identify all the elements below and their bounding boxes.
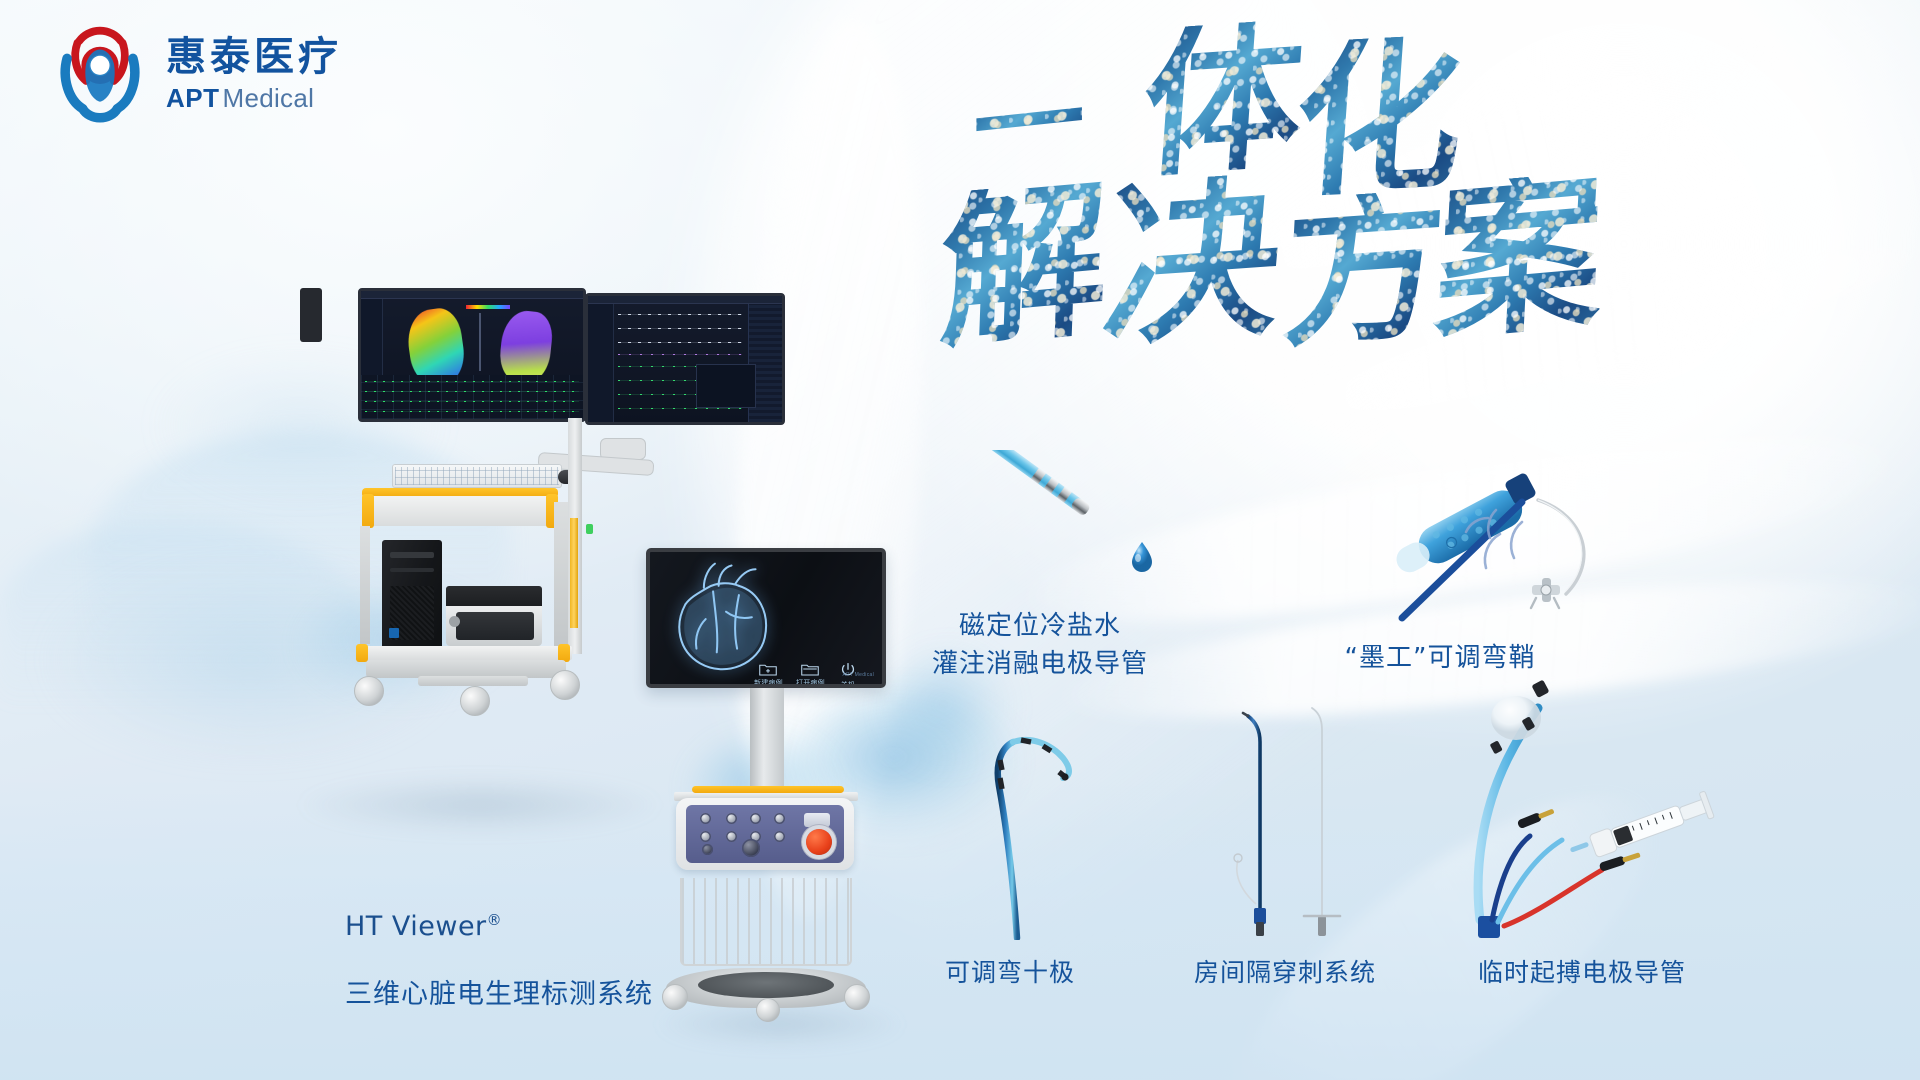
product-irrigated-ablation-catheter — [990, 450, 1190, 600]
coax-port[interactable] — [742, 839, 760, 857]
emergency-stop-button[interactable] — [806, 829, 832, 855]
monitor-inset-panel — [696, 364, 756, 408]
connector-port[interactable] — [700, 813, 711, 824]
cart-lower-shelf — [358, 646, 572, 660]
touch-cart-pole — [750, 688, 784, 800]
product-decapolar-catheter — [955, 720, 1115, 940]
label-decapolar-catheter: 可调弯十极 — [880, 955, 1140, 991]
touch-cart-base-inner — [698, 972, 834, 998]
label-temporary-pacing-catheter: 临时起搏电极导管 — [1417, 955, 1747, 991]
keyboard — [392, 464, 562, 488]
touchscreen-display[interactable]: 新建病例 打开病例 关机 配准/定位 APT Medical — [646, 548, 886, 688]
brand-logo: 惠泰医疗 APT Medical — [48, 22, 342, 126]
touch-cart-rail — [692, 786, 844, 793]
cart-caster — [460, 686, 490, 716]
mapping-monitor-main — [358, 288, 586, 422]
product-temporary-pacing-catheter — [1470, 670, 1750, 940]
printer-top — [446, 586, 542, 608]
cardiac-map-right — [497, 309, 554, 386]
cart-shelf-accent — [356, 644, 368, 662]
connector-port[interactable] — [774, 831, 785, 842]
connector-port[interactable] — [700, 831, 711, 842]
monitor-stand-neck — [300, 288, 322, 342]
connector-port[interactable] — [726, 831, 737, 842]
touch-cart-caster — [662, 984, 688, 1010]
logo-apt-text: APT — [166, 83, 220, 114]
cart-right-post — [554, 502, 568, 652]
apt-medical-ring-logo-icon — [48, 22, 152, 126]
headline-char-7: 案 — [1431, 170, 1607, 346]
syringe — [1569, 791, 1714, 867]
pc-tower — [382, 540, 442, 650]
connector-panel-box — [676, 798, 854, 870]
headline-calligraphy: 一 体 化 解 决 方 案 — [965, 28, 1625, 358]
cart-left-post — [360, 526, 370, 644]
connector-port[interactable] — [726, 813, 737, 824]
open-case-icon[interactable]: 打开病例 — [796, 662, 825, 688]
connector-port[interactable] — [774, 813, 785, 824]
touch-cart-caster — [756, 998, 780, 1022]
touchscreen-brand-strip: APT Medical — [842, 672, 874, 678]
label-transseptal-system: 房间隔穿刺系统 — [1135, 955, 1435, 991]
product-steerable-sheath — [1390, 440, 1720, 630]
recording-monitor-side — [585, 293, 785, 425]
cart-caster — [550, 670, 580, 700]
colorbar — [466, 305, 510, 309]
headline-char-5: 决 — [1098, 171, 1288, 352]
connector-port[interactable] — [750, 813, 761, 824]
logo-medical-text: Medical — [223, 83, 315, 114]
headline-char-6: 方 — [1279, 188, 1449, 354]
monitor-toolbar — [361, 291, 583, 299]
touchscreen-cart: 新建病例 打开病例 关机 配准/定位 APT Medical — [640, 548, 910, 1028]
power-indicator-led — [586, 524, 593, 534]
cart-caster — [354, 676, 384, 706]
cart-foot-bar — [418, 676, 528, 686]
cart-top-drawer — [366, 496, 554, 526]
label-irrigated-ablation-catheter: 磁定位冷盐水 灌注消融电极导管 — [890, 608, 1190, 683]
ground-port[interactable] — [702, 844, 713, 855]
stopcock — [1531, 578, 1560, 608]
cart-corner-accent — [362, 494, 374, 528]
ht-viewer-label-cn: 三维心脏电生理标测系统 — [345, 975, 653, 1014]
catheter-shaft-render — [479, 313, 481, 371]
touch-cart-caster — [844, 984, 870, 1010]
ht-viewer-label: HT Viewer® 三维心脏电生理标测系统 — [345, 845, 653, 1037]
panel-indicator — [804, 813, 830, 827]
product-transseptal-system — [1230, 690, 1370, 940]
new-case-icon[interactable]: 新建病例 — [754, 662, 783, 688]
printer-body — [446, 606, 542, 646]
ecg-waveform-panel — [361, 375, 583, 419]
cart-column-accent — [570, 518, 578, 628]
monitor-channel-list — [588, 304, 614, 422]
connector-panel-face — [686, 805, 844, 863]
poster-canvas: 惠泰医疗 APT Medical 一 体 化 解 决 方 案 — [0, 0, 1920, 1080]
logo-chinese-name: 惠泰医疗 — [166, 35, 342, 79]
headline-char-4: 解 — [938, 178, 1111, 353]
storage-basket — [680, 878, 852, 966]
ht-viewer-label-en: HT Viewer® — [345, 868, 653, 946]
